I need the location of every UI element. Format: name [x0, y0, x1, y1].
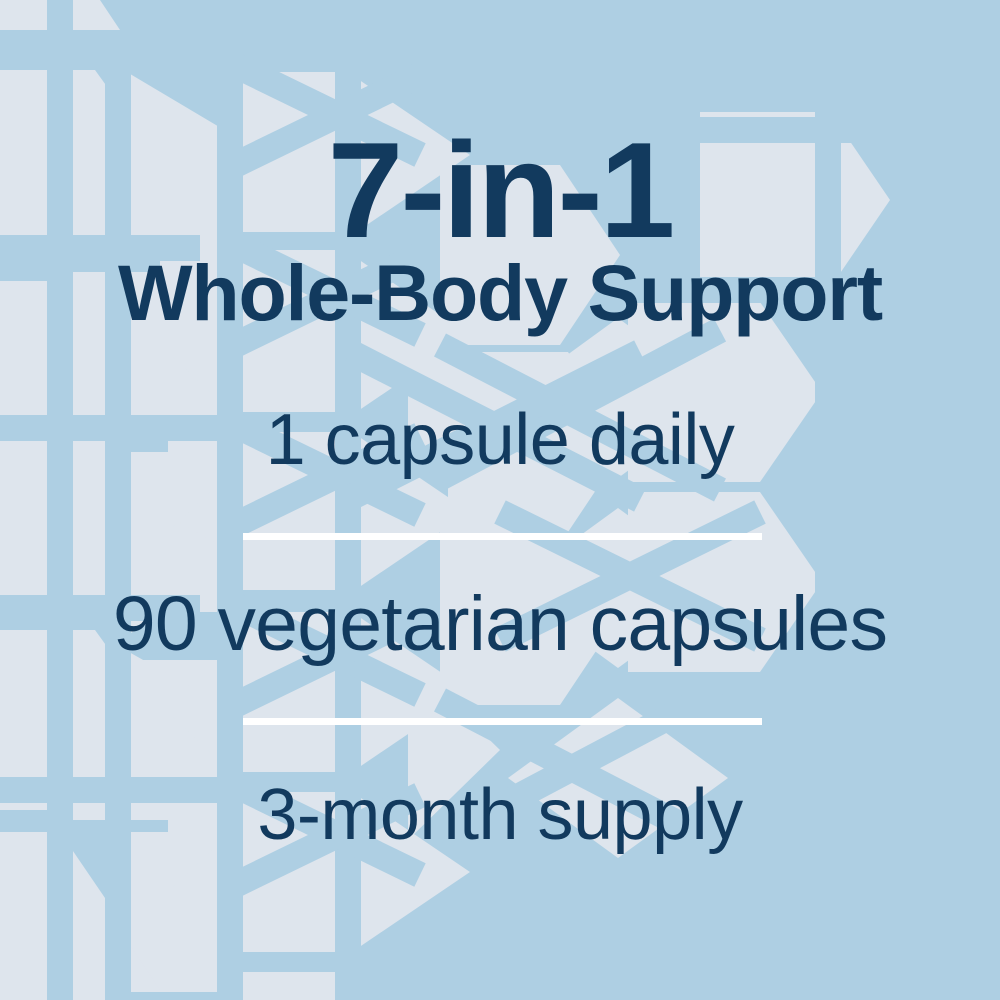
divider-top — [243, 533, 762, 540]
headline: 7-in-1 — [0, 122, 1000, 258]
product-feature-card: 7-in-1 Whole-Body Support 1 capsule dail… — [0, 0, 1000, 1000]
fact-capsule-count: 90 vegetarian capsules — [0, 586, 1000, 663]
divider-bottom — [243, 718, 762, 725]
fact-supply-duration: 3-month supply — [0, 779, 1000, 851]
subheadline: Whole-Body Support — [0, 253, 1000, 332]
fact-dosage: 1 capsule daily — [0, 404, 1000, 476]
card-content: 7-in-1 Whole-Body Support 1 capsule dail… — [0, 0, 1000, 1000]
